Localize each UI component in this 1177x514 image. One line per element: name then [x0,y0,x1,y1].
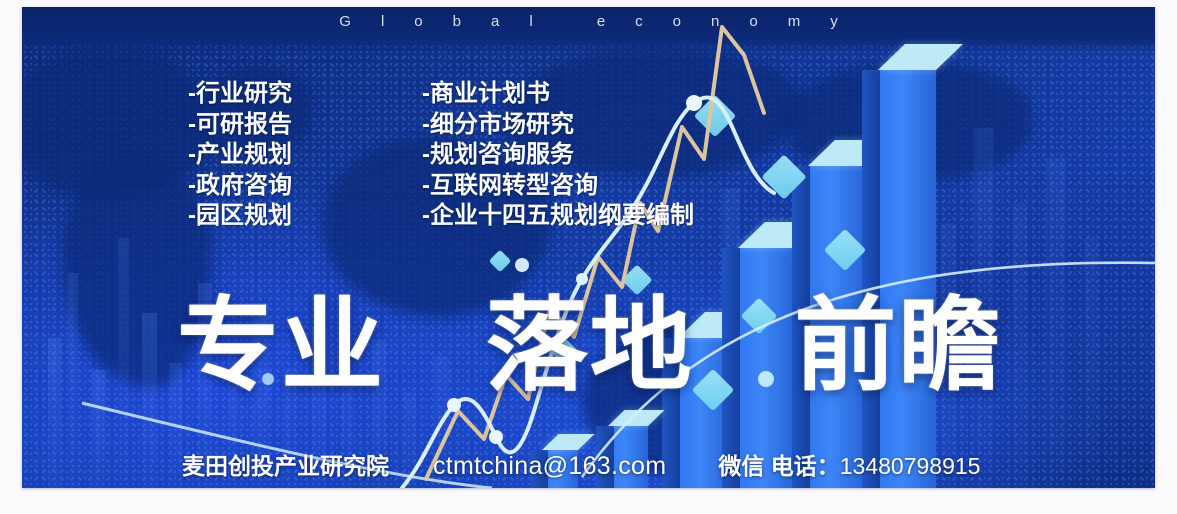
service-item: -互联网转型咨询 [422,171,694,202]
contact-label: 微信 电话： [718,447,839,481]
headline-word-3: 前瞻 [794,289,1002,403]
data-point-marker [489,430,503,444]
service-item: -规划咨询服务 [422,140,694,171]
footer-contact-row: 麦田创投产业研究院 ctmtchina@163.com 微信 电话： 13480… [182,447,980,481]
service-item: -产业规划 [188,140,292,171]
services-column-right: -商业计划书 -细分市场研究 -规划咨询服务 -互联网转型咨询 -企业十四五规划… [422,79,694,232]
headline-word-1: 专业 [177,289,385,403]
kicker-text: Global economy [22,13,1155,30]
service-item: -企业十四五规划纲要编制 [422,201,694,232]
service-item: -可研报告 [188,110,292,141]
data-point-marker [515,258,529,272]
service-item: -园区规划 [188,201,292,232]
service-item: -行业研究 [188,79,292,110]
organization-name: 麦田创投产业研究院 [182,447,389,481]
marketing-banner: Global economy -行业研究 -可研报告 -产业规划 -政府咨询 -… [22,7,1155,488]
data-point-marker [576,273,588,285]
services-column-left: -行业研究 -可研报告 -产业规划 -政府咨询 -园区规划 [188,79,292,232]
service-item: -政府咨询 [188,171,292,202]
banner-frame: Global economy -行业研究 -可研报告 -产业规划 -政府咨询 -… [0,0,1177,514]
email-address[interactable]: ctmtchina@163.com [433,452,666,481]
service-item: -细分市场研究 [422,110,694,141]
headline-word-2: 落地 [486,289,694,403]
phone-number: 13480798915 [840,453,981,480]
headline: 专业 落地 前瞻 [177,295,1002,397]
service-item: -商业计划书 [422,79,694,110]
